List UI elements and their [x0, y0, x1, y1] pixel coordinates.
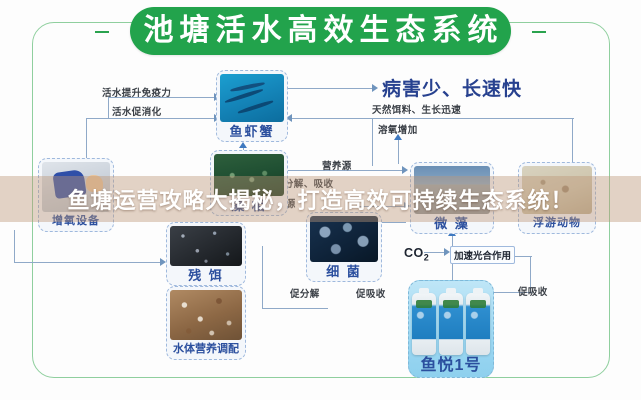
connector-residue-in [14, 262, 162, 263]
connector-person-up [86, 118, 87, 158]
label-digestion: 活水促消化 [112, 104, 162, 118]
connector-person-to-fish [86, 118, 216, 119]
connector-naturalfeed-down [572, 118, 573, 166]
co2-text: CO [404, 246, 424, 260]
connector-naturalfeed-down2 [372, 118, 373, 166]
node-residue[interactable]: 残 饵 [166, 222, 246, 286]
infographic-canvas: 池塘活水高效生态系统 活水提 [0, 0, 641, 400]
frame-tick-left [95, 31, 109, 33]
node-bacteria[interactable]: 细 菌 [306, 212, 382, 282]
bacteria-photo [310, 216, 378, 262]
node-nutrition-label: 水体营养调配 [173, 340, 239, 359]
node-product-label: 鱼悦1号 [421, 355, 482, 377]
label-co2: CO2 [404, 246, 429, 263]
connector-residue-right [262, 246, 263, 308]
arrow-fish-to-headline [372, 84, 378, 92]
label-oxygen: 溶氧增加 [378, 122, 418, 136]
label-immunity: 活水提升免疫力 [102, 85, 171, 99]
co2-subscript: 2 [424, 253, 430, 263]
label-promote-absorb-mid: 促吸收 [356, 286, 386, 300]
frame-tick-right [532, 31, 546, 33]
product-bottles [409, 286, 493, 355]
node-bacteria-label: 细 菌 [326, 262, 362, 281]
bottle-1 [412, 293, 436, 355]
fish-photo [220, 74, 284, 122]
connector-to-bacteria [262, 308, 328, 309]
node-product[interactable]: 鱼悦1号 [408, 280, 494, 378]
bottle-2 [439, 293, 463, 355]
bottle-3 [466, 293, 490, 355]
page-title: 池塘活水高效生态系统 [130, 7, 511, 55]
node-nutrition[interactable]: 水体营养调配 [166, 286, 246, 360]
label-promote-absorb-right: 促吸收 [518, 284, 548, 298]
residue-photo [170, 226, 242, 266]
arrow-nutrient-top [402, 166, 408, 174]
connector-fish-to-headline [288, 88, 374, 89]
label-nutrient-source-top: 营养源 [322, 158, 352, 172]
connector-residue-riser [14, 230, 15, 262]
connector-oxygen [398, 140, 399, 164]
headline-benefit: 病害少、长速快 [382, 74, 522, 101]
watermark-caption: 鱼塘运营攻略大揭秘，打造高效可持续生态系统！ [0, 176, 641, 222]
connector-naturalfeed [288, 118, 574, 119]
label-photosynthesis: 加速光合作用 [450, 246, 515, 264]
node-fish-label: 鱼虾蟹 [229, 122, 274, 141]
label-promote-decompose: 促分解 [290, 286, 320, 300]
label-natural-feed: 天然饵料、生长迅速 [372, 102, 461, 116]
page-title-text: 池塘活水高效生态系统 [138, 16, 504, 46]
connector-immunity-drop [108, 97, 109, 118]
node-fish[interactable]: 鱼虾蟹 [216, 70, 288, 142]
node-residue-label: 残 饵 [188, 266, 224, 285]
arrow-algae-to-fish [239, 142, 247, 148]
nutrition-photo [170, 290, 242, 340]
